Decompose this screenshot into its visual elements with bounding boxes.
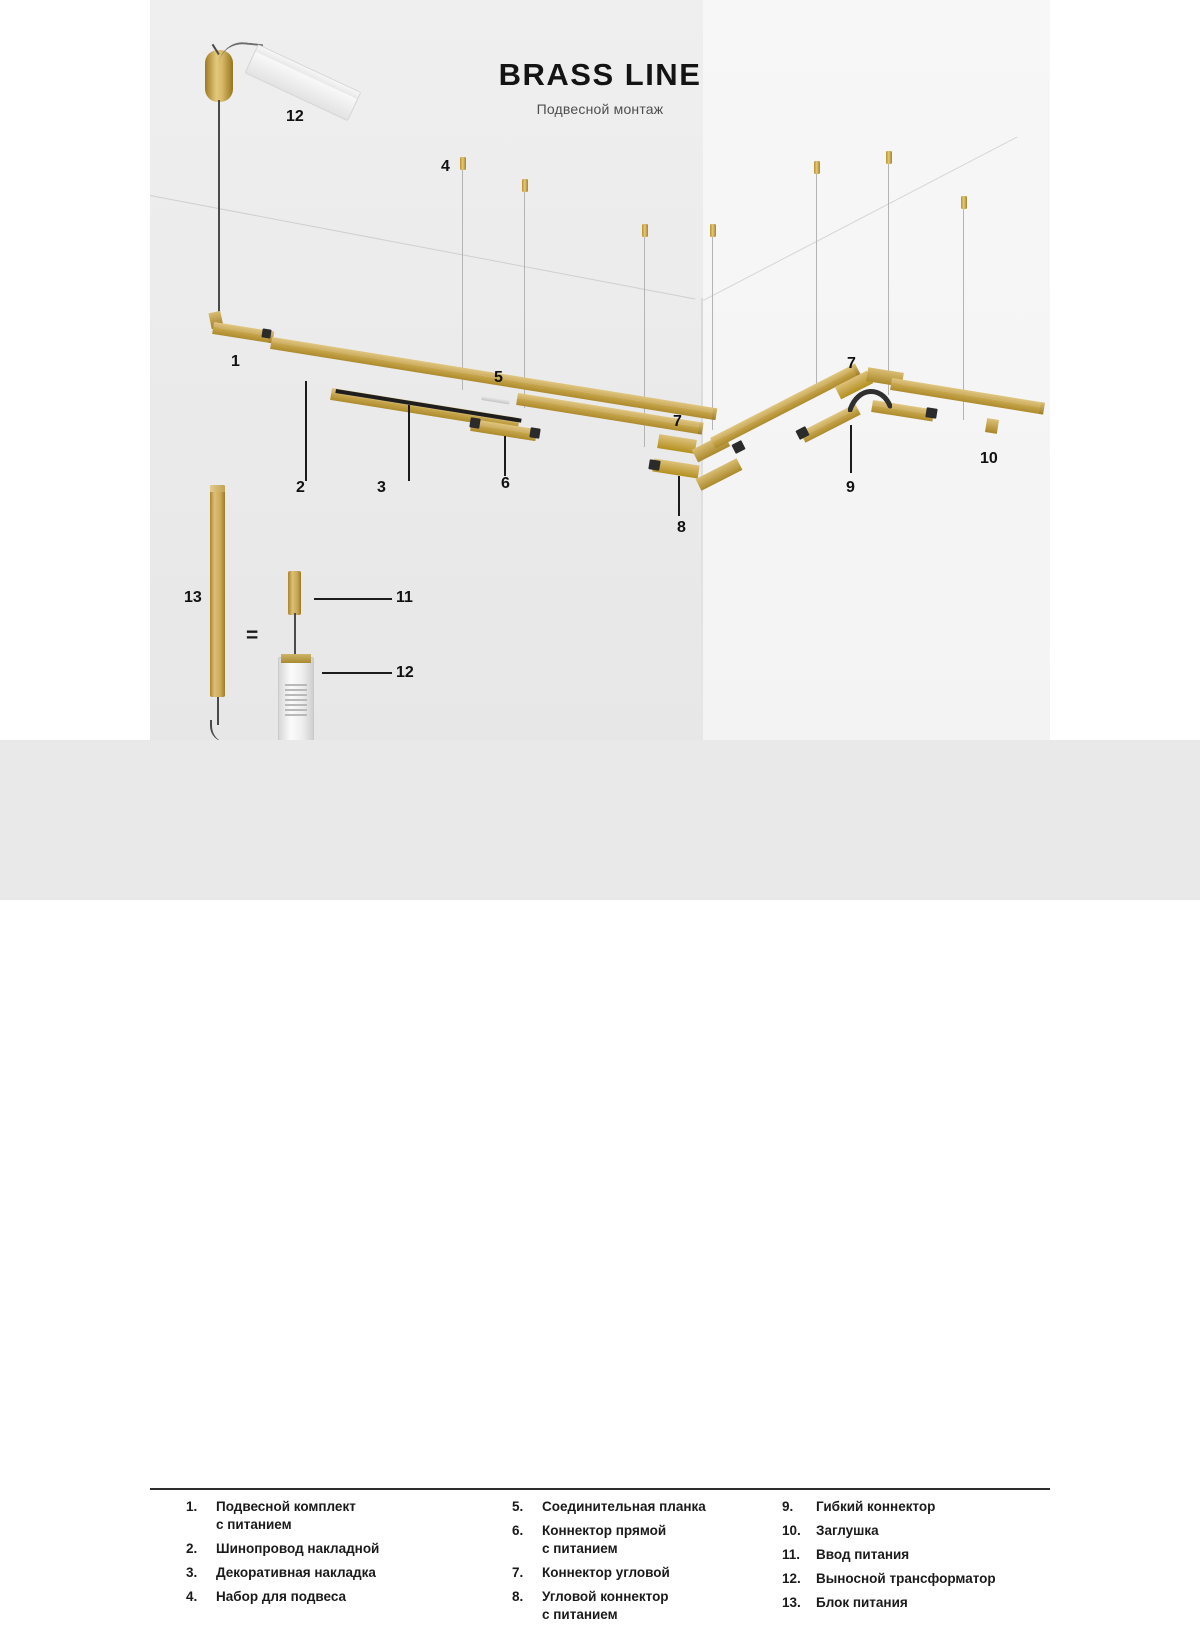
power-input-body — [288, 571, 301, 615]
suspension-wire-1 — [462, 168, 463, 390]
suspension-tip-2 — [522, 179, 528, 192]
legend-item: 1. Подвесной комплект с питанием — [186, 1498, 486, 1534]
legend-item-number: 4. — [186, 1588, 212, 1606]
suspension-wire-6 — [888, 162, 889, 395]
callout-9: 9 — [846, 479, 855, 497]
legend-item-number: 9. — [782, 1498, 812, 1516]
legend-item-label: Подвесной комплект с питанием — [216, 1498, 486, 1534]
callout-7-right: 7 — [847, 355, 856, 373]
suspension-tip-7 — [961, 196, 967, 209]
legend-item-number: 5. — [512, 1498, 538, 1516]
power-unit-bar — [210, 485, 225, 697]
legend-item-number: 7. — [512, 1564, 538, 1582]
legend-item-number: 11. — [782, 1546, 812, 1564]
legend-item: 7. Коннектор угловой — [512, 1564, 802, 1582]
callout-7-left: 7 — [673, 413, 682, 431]
legend-item: 5. Соединительная планка — [512, 1498, 802, 1516]
suspension-tip-1 — [460, 157, 466, 170]
callout-3: 3 — [377, 479, 386, 497]
legend-item: 8. Угловой коннектор с питанием — [512, 1588, 802, 1624]
legend-item-label: Блок питания — [816, 1594, 1082, 1612]
legend-item: 9. Гибкий коннектор — [782, 1498, 1082, 1516]
legend-item-number: 3. — [186, 1564, 212, 1582]
legend-item: 3. Декоративная накладка — [186, 1564, 486, 1582]
legend-column-2: 5. Соединительная планка 6. Коннектор пр… — [512, 1498, 802, 1630]
pendant-supply-cable — [218, 100, 220, 322]
corner-power-left-terminal — [648, 459, 660, 471]
callout-2: 2 — [296, 479, 305, 497]
suspension-wire-5 — [816, 172, 817, 390]
legend-item-label: Коннектор прямой с питанием — [542, 1522, 802, 1558]
callout-1: 1 — [231, 353, 240, 371]
callout-13: 13 — [184, 589, 202, 607]
callout-4: 4 — [441, 158, 450, 176]
suspension-wire-2 — [524, 190, 525, 408]
legend-item-label: Гибкий коннектор — [816, 1498, 1082, 1516]
legend-item-number: 12. — [782, 1570, 812, 1588]
legend-item-label: Заглушка — [816, 1522, 1082, 1540]
legend-item: 12. Выносной трансформатор — [782, 1570, 1082, 1588]
page-title: BRASS LINE — [0, 57, 1200, 93]
callout-6: 6 — [501, 475, 510, 493]
legend-column-1: 1. Подвесной комплект с питанием 2. Шино… — [186, 1498, 486, 1612]
pendant-feed-terminal — [261, 328, 271, 338]
legend-item-label: Коннектор угловой — [542, 1564, 802, 1582]
leader-line-11 — [314, 598, 392, 600]
flex-right-terminal — [925, 407, 937, 419]
leader-line-9 — [850, 425, 852, 473]
legend-item-label: Соединительная планка — [542, 1498, 802, 1516]
leader-line-8 — [678, 476, 680, 516]
legend-item-number: 10. — [782, 1522, 812, 1540]
legend-item-label: Декоративная накладка — [216, 1564, 486, 1582]
legend-item-number: 1. — [186, 1498, 212, 1516]
leader-line-3 — [408, 405, 410, 481]
leader-line-12b — [322, 672, 392, 674]
legend-item-label: Шинопровод накладной — [216, 1540, 486, 1558]
suspension-tip-3 — [642, 224, 648, 237]
legend-item-number: 2. — [186, 1540, 212, 1558]
legend-item-number: 6. — [512, 1522, 538, 1540]
power-input-cable — [294, 613, 296, 659]
legend-item-number: 8. — [512, 1588, 538, 1606]
equals-sign: = — [246, 624, 258, 648]
legend-item-label: Ввод питания — [816, 1546, 1082, 1564]
callout-8: 8 — [677, 519, 686, 537]
callout-11: 11 — [396, 589, 413, 607]
suspension-wire-4 — [712, 235, 713, 430]
suspension-wire-7 — [963, 207, 964, 420]
suspension-tip-4 — [710, 224, 716, 237]
legend-divider — [150, 1488, 1050, 1490]
leader-line-6 — [504, 436, 506, 476]
end-cap-piece — [985, 418, 999, 434]
legend-item: 6. Коннектор прямой с питанием — [512, 1522, 802, 1558]
power-unit-bar-top — [210, 485, 225, 492]
legend-item: 10. Заглушка — [782, 1522, 1082, 1540]
legend-item-label: Выносной трансформатор — [816, 1570, 1082, 1588]
wall-corner-edge — [701, 298, 703, 740]
legend-item: 4. Набор для подвеса — [186, 1588, 486, 1606]
callout-10: 10 — [980, 450, 998, 468]
page-subtitle: Подвесной монтаж — [0, 101, 1200, 117]
suspension-tip-6 — [886, 151, 892, 164]
callout-12-bottom: 12 — [396, 664, 414, 682]
legend-item: 13. Блок питания — [782, 1594, 1082, 1612]
legend-item-label: Набор для подвеса — [216, 1588, 486, 1606]
suspension-tip-5 — [814, 161, 820, 174]
callout-5: 5 — [494, 369, 503, 387]
psu-body — [278, 657, 314, 740]
connector6-right-terminal — [529, 427, 540, 438]
legend-item: 2. Шинопровод накладной — [186, 1540, 486, 1558]
leader-line-2 — [305, 381, 307, 481]
product-diagram-page: BRASS LINE Подвесной монтаж 12 4 1 2 3 5… — [0, 0, 1200, 900]
legend-panel: 1. Подвесной комплект с питанием 2. Шино… — [0, 740, 1200, 900]
connector6-left-terminal — [469, 417, 480, 428]
legend-column-3: 9. Гибкий коннектор 10. Заглушка 11. Вво… — [782, 1498, 1082, 1618]
legend-item-number: 13. — [782, 1594, 812, 1612]
callout-12-top: 12 — [286, 108, 304, 126]
psu-top-terminal — [281, 654, 311, 663]
legend-item-label: Угловой коннектор с питанием — [542, 1588, 802, 1624]
legend-item: 11. Ввод питания — [782, 1546, 1082, 1564]
